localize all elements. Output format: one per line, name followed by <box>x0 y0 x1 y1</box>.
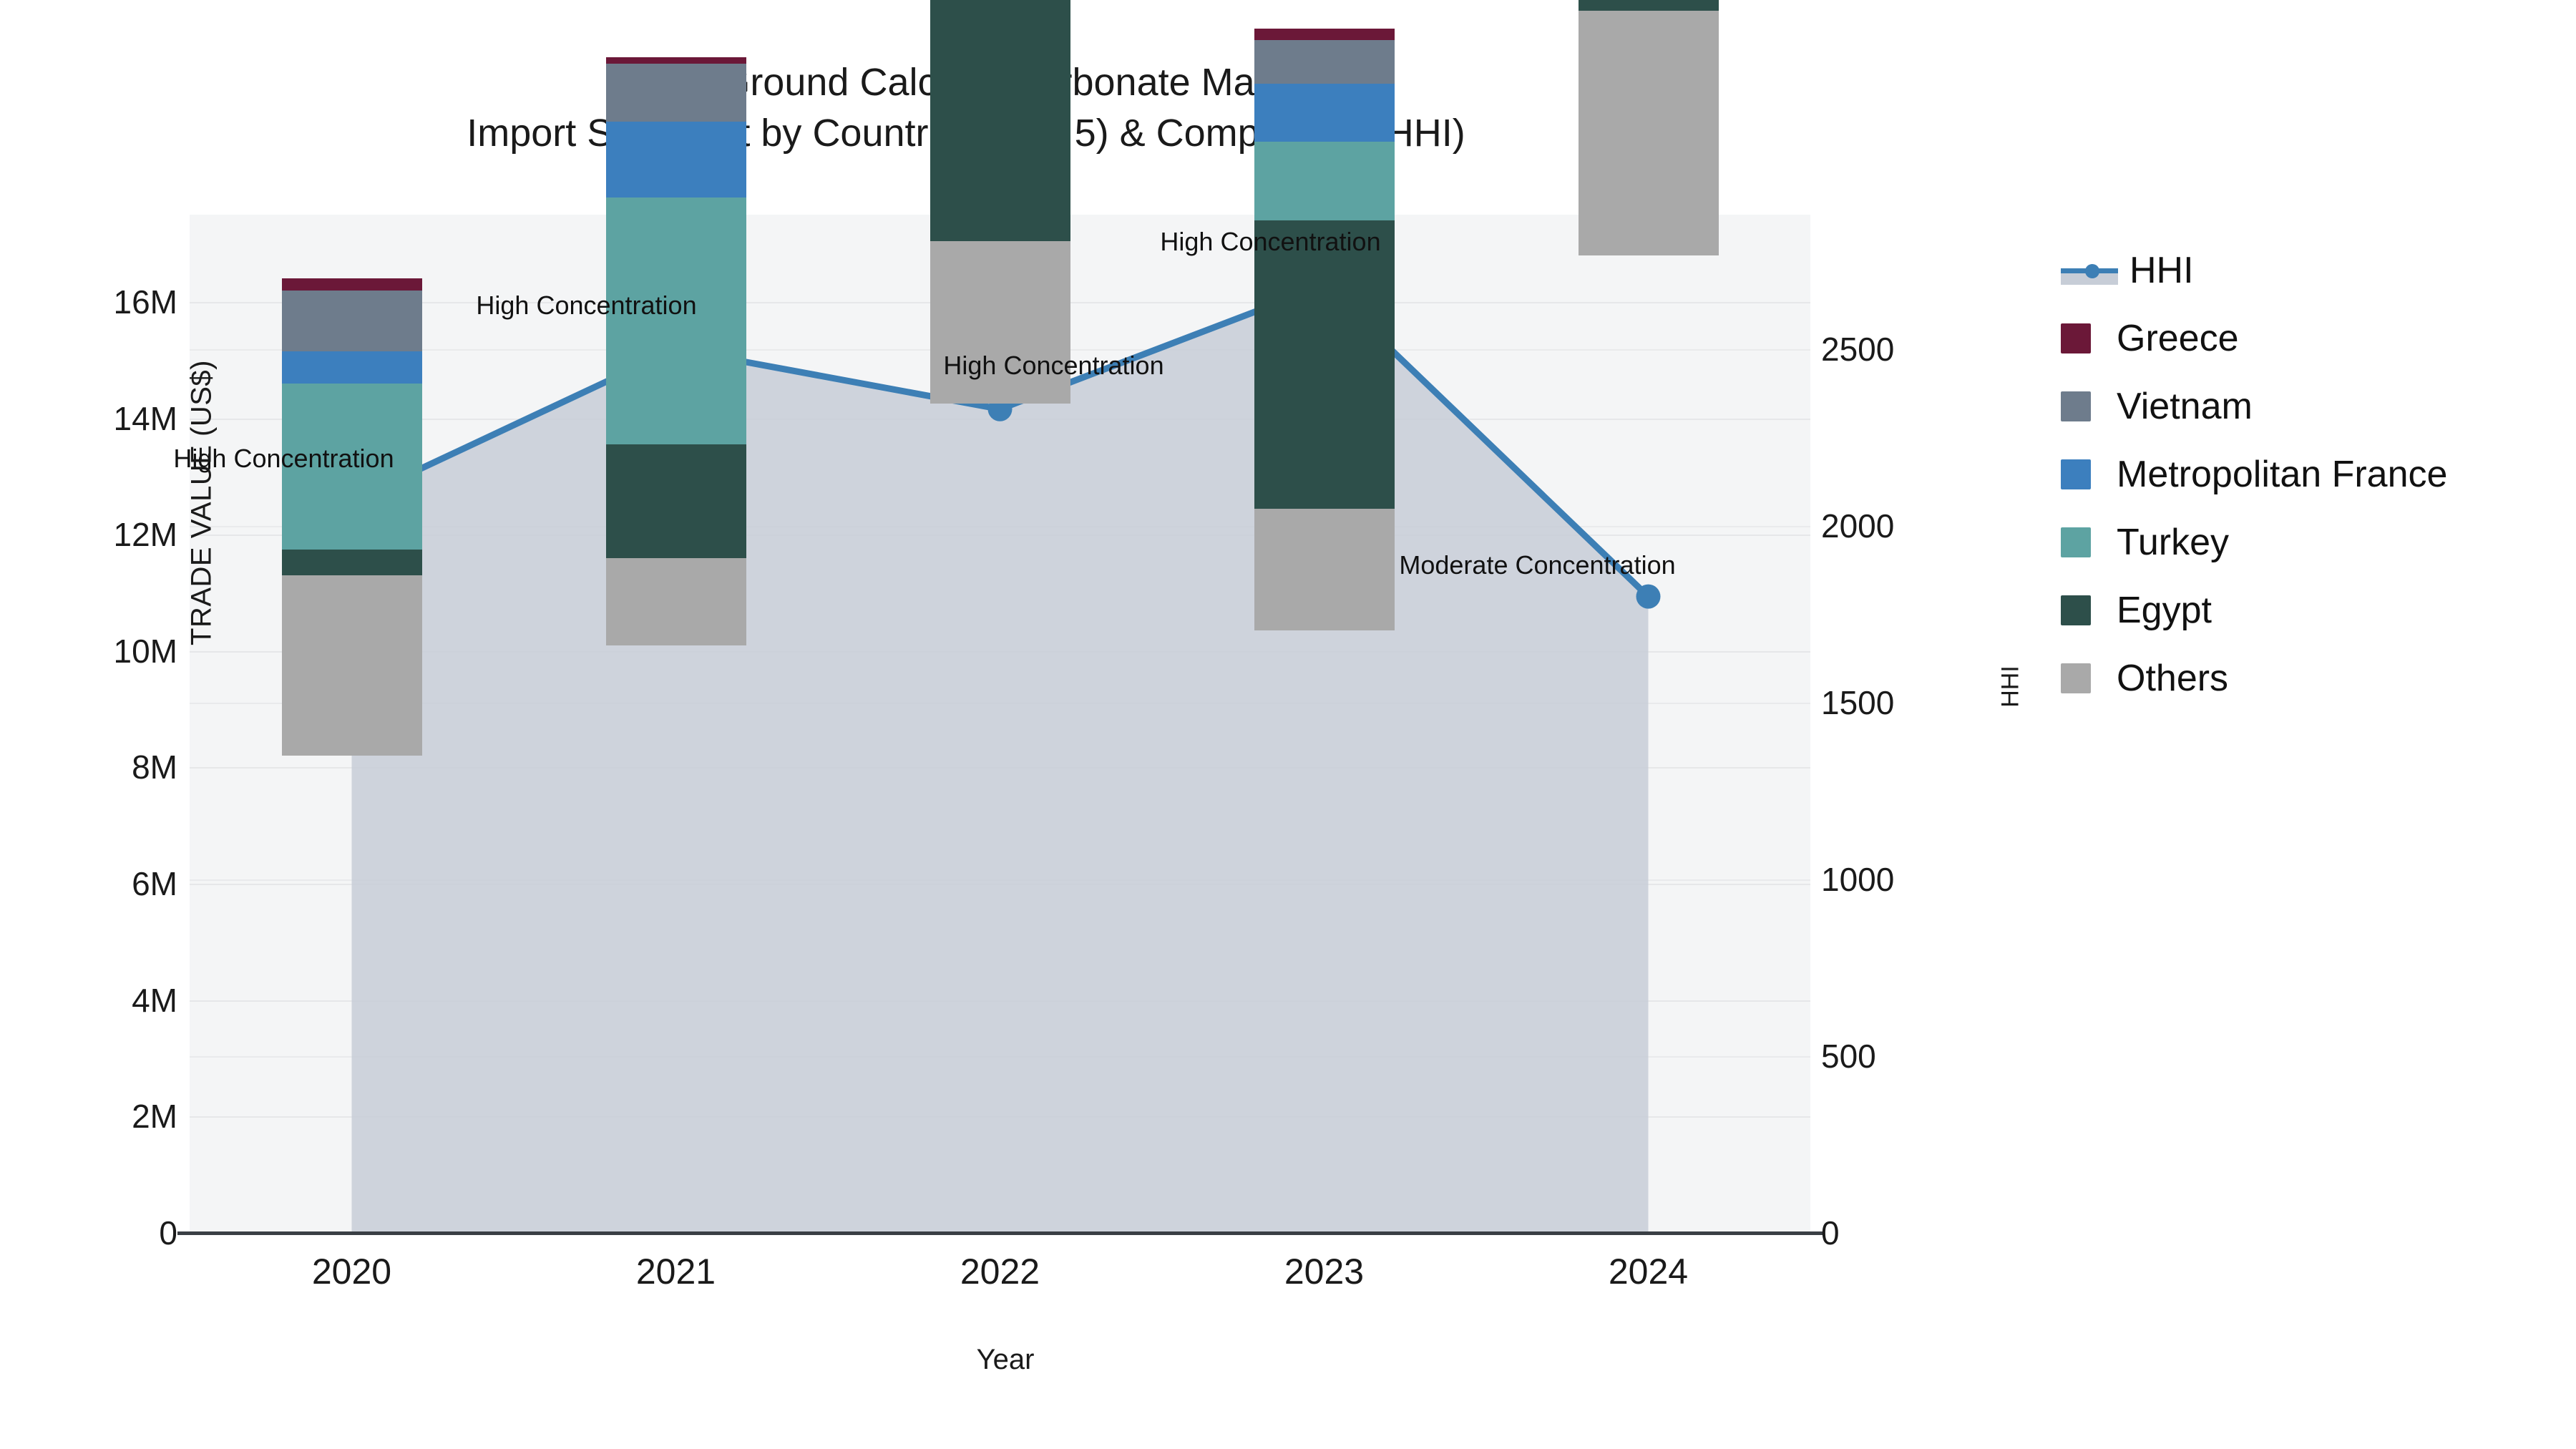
bar-segment-2024-others[interactable] <box>1579 11 1719 255</box>
legend-label: Metropolitan France <box>2117 456 2447 493</box>
legend-label: Greece <box>2117 320 2239 357</box>
bar-column-2023[interactable] <box>1254 630 1395 1233</box>
bar-segment-2021-greece[interactable] <box>606 57 746 63</box>
bar-segment-2020-greece[interactable] <box>282 278 422 290</box>
bar-segment-2021-turkey[interactable] <box>606 197 746 445</box>
y-tick-right-0: 0 <box>1821 1214 2021 1252</box>
legend-swatch-icon <box>2061 663 2091 693</box>
bar-segment-2022-egypt[interactable] <box>930 0 1070 241</box>
y-axis-left-title: TRADE VALUE (US$) <box>186 288 218 718</box>
hhi-line-icon <box>2061 255 2118 286</box>
bar-segment-2023-metropolitan-france[interactable] <box>1254 84 1395 142</box>
bar-column-2024[interactable] <box>1579 255 1719 1233</box>
bar-segment-2020-metropolitan-france[interactable] <box>282 351 422 384</box>
bar-segment-2020-others[interactable] <box>282 575 422 756</box>
x-tick-2020: 2020 <box>245 1251 459 1292</box>
bar-segment-2021-others[interactable] <box>606 558 746 645</box>
x-tick-2021: 2021 <box>569 1251 784 1292</box>
y-tick-left-16M: 16M <box>0 283 177 321</box>
bar-segment-2024-egypt[interactable] <box>1579 0 1719 11</box>
x-tick-2024: 2024 <box>1541 1251 1756 1292</box>
y-tick-left-8M: 8M <box>0 748 177 786</box>
legend-item-vietnam[interactable]: Vietnam <box>2061 372 2562 440</box>
legend-label: Vietnam <box>2117 388 2253 425</box>
legend-label: HHI <box>2129 252 2194 289</box>
y-tick-left-10M: 10M <box>0 632 177 670</box>
legend-swatch-icon <box>2061 459 2091 489</box>
chart-canvas: Brazil Ground Calcium Carbonate Market I… <box>0 0 2576 1449</box>
bar-segment-2021-metropolitan-france[interactable] <box>606 122 746 197</box>
legend: HHIGreeceVietnamMetropolitan FranceTurke… <box>2061 236 2562 712</box>
legend-swatch-icon <box>2061 391 2091 421</box>
annotation-2023: High Concentration <box>1160 227 1380 257</box>
annotation-2022: High Concentration <box>943 351 1163 381</box>
y-tick-right-1500: 1500 <box>1821 683 2021 722</box>
legend-item-metropolitan-france[interactable]: Metropolitan France <box>2061 440 2562 508</box>
x-axis-line <box>177 1231 1823 1235</box>
legend-item-others[interactable]: Others <box>2061 644 2562 712</box>
annotation-2021: High Concentration <box>476 291 696 321</box>
y-tick-right-2500: 2500 <box>1821 330 2021 369</box>
bar-column-2022[interactable] <box>930 404 1070 1233</box>
y-tick-left-14M: 14M <box>0 399 177 438</box>
y-tick-left-4M: 4M <box>0 981 177 1020</box>
y-axis-right-title: HHI <box>1997 601 2025 773</box>
annotation-2024: Moderate Concentration <box>1399 550 1675 580</box>
x-axis-title: Year <box>898 1344 1113 1376</box>
x-tick-2022: 2022 <box>893 1251 1108 1292</box>
legend-swatch-icon <box>2061 595 2091 625</box>
legend-item-egypt[interactable]: Egypt <box>2061 576 2562 644</box>
bar-column-2021[interactable] <box>606 645 746 1233</box>
bar-segment-2023-vietnam[interactable] <box>1254 40 1395 84</box>
bar-segment-2023-turkey[interactable] <box>1254 142 1395 220</box>
y-tick-left-0: 0 <box>0 1214 177 1252</box>
legend-item-greece[interactable]: Greece <box>2061 304 2562 372</box>
x-tick-2023: 2023 <box>1217 1251 1432 1292</box>
bar-segment-2020-egypt[interactable] <box>282 550 422 576</box>
y-tick-left-12M: 12M <box>0 515 177 554</box>
y-tick-right-2000: 2000 <box>1821 507 2021 545</box>
bar-segment-2023-egypt[interactable] <box>1254 220 1395 509</box>
legend-label: Turkey <box>2117 524 2229 561</box>
y-tick-right-1000: 1000 <box>1821 860 2021 899</box>
y-tick-left-2M: 2M <box>0 1097 177 1136</box>
legend-swatch-icon <box>2061 323 2091 353</box>
bar-segment-2020-vietnam[interactable] <box>282 291 422 351</box>
legend-item-hhi[interactable]: HHI <box>2061 236 2562 304</box>
legend-swatch-icon <box>2061 527 2091 557</box>
bar-column-2020[interactable] <box>282 756 422 1233</box>
legend-item-turkey[interactable]: Turkey <box>2061 508 2562 576</box>
bar-segment-2021-vietnam[interactable] <box>606 64 746 122</box>
bar-segment-2023-greece[interactable] <box>1254 29 1395 40</box>
bar-segment-2021-egypt[interactable] <box>606 444 746 558</box>
y-tick-right-500: 500 <box>1821 1037 2021 1075</box>
bar-segment-2023-others[interactable] <box>1254 509 1395 631</box>
legend-label: Others <box>2117 660 2228 697</box>
legend-label: Egypt <box>2117 592 2212 629</box>
y-tick-left-6M: 6M <box>0 864 177 903</box>
y-axis-left-ticks: 02M4M6M8M10M12M14M16M <box>0 0 179 1449</box>
